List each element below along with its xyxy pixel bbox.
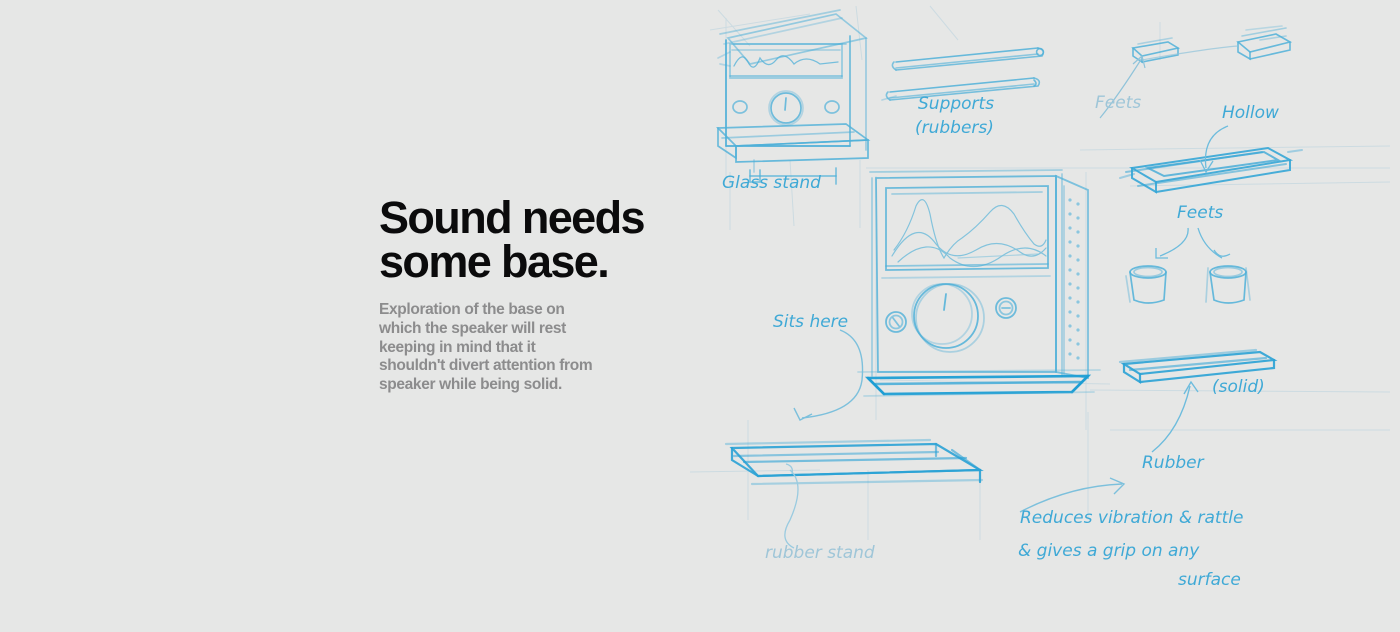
foot-block-right (1238, 26, 1290, 59)
rubber-arrow (1152, 382, 1198, 452)
sketch-artwork: Glass stand Supports (rubbers) (690, 0, 1400, 632)
annotation-glass-stand: Glass stand (722, 173, 821, 193)
annotation-note-line-2: & gives a grip on any (1018, 541, 1200, 561)
cylinder-foot-left (1126, 266, 1166, 303)
annotation-hollow: Hollow (1222, 103, 1279, 123)
canvas: Sound needs some base. Exploration of th… (0, 0, 1400, 632)
sits-here-arrow (794, 330, 863, 420)
feets-mid-arrows (1156, 228, 1230, 258)
annotation-sits-here: Sits here (773, 312, 848, 332)
annotation-note-line-1: Reduces vibration & rattle (1020, 508, 1243, 528)
annotation-supports: Supports (918, 94, 994, 114)
page-subcopy: Exploration of the base on which the spe… (379, 284, 594, 395)
text-block: Sound needs some base. Exploration of th… (379, 196, 679, 395)
page-title: Sound needs some base. (379, 196, 679, 284)
hollow-frame (1120, 148, 1302, 192)
main-speaker (858, 170, 1100, 396)
annotation-solid: (solid) (1212, 377, 1265, 397)
note-arrow (1020, 478, 1124, 512)
construction-lines (690, 6, 1390, 540)
annotation-feets-mid: Feets (1177, 203, 1223, 223)
annotation-rubber-stand: rubber stand (765, 543, 875, 563)
rubber-stand-slab (726, 440, 982, 484)
annotation-feets-top: Feets (1095, 93, 1141, 113)
rubber-stand-arrow (785, 464, 798, 548)
hollow-arrow (1200, 126, 1228, 172)
cylinder-foot-right (1206, 266, 1250, 303)
annotation-rubber: Rubber (1142, 453, 1205, 473)
glass-stand-speaker (718, 10, 868, 184)
rubber-support-rails (882, 48, 1043, 100)
annotation-note-line-3: surface (1178, 570, 1241, 590)
annotation-supports-rubbers: (rubbers) (915, 118, 994, 138)
